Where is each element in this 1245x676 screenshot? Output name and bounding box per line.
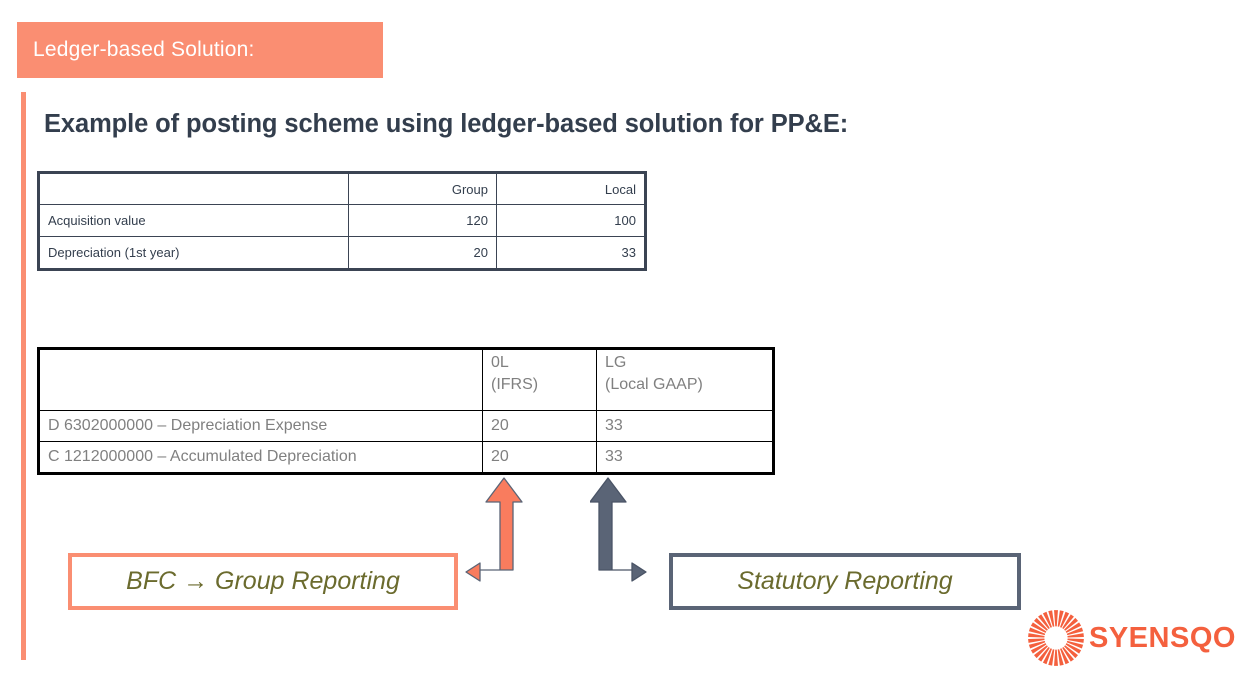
header-banner-label: Ledger-based Solution: (17, 38, 255, 62)
value-row-label: Depreciation (1st year) (39, 237, 349, 270)
value-row-local: 100 (497, 205, 646, 237)
ledger-row-localgaap: 33 (597, 442, 774, 474)
ledger-header-ifrs: 0L (IFRS) (483, 349, 597, 411)
ledger-row-ifrs: 20 (483, 411, 597, 442)
ledger-header-ifrs-line1: 0L (491, 352, 588, 374)
ledger-header-localgaap: LG (Local GAAP) (597, 349, 774, 411)
value-row-group: 120 (349, 205, 497, 237)
brand-wordmark: SYENSQO (1089, 624, 1236, 653)
value-row-local: 33 (497, 237, 646, 270)
table-row: Depreciation (1st year) 20 33 (39, 237, 646, 270)
table-row: Acquisition value 120 100 (39, 205, 646, 237)
value-row-group: 20 (349, 237, 497, 270)
page-title: Example of posting scheme using ledger-b… (44, 110, 848, 139)
ledger-header-localgaap-line1: LG (605, 352, 764, 374)
ledger-header-localgaap-line2: (Local GAAP) (605, 374, 764, 396)
ledger-row-ifrs: 20 (483, 442, 597, 474)
arrow-statutory-icon (590, 476, 660, 596)
callout-bfc-group-reporting[interactable]: BFC → Group Reporting (68, 553, 458, 610)
ledger-header-blank (39, 349, 483, 411)
arrow-bfc-icon (462, 476, 532, 596)
value-table-header-group: Group (349, 173, 497, 205)
value-table-header-row: Group Local (39, 173, 646, 205)
brand-logo: SYENSQO (1027, 608, 1237, 668)
header-banner: Ledger-based Solution: (17, 22, 383, 78)
value-table-header-local: Local (497, 173, 646, 205)
callout-statutory-reporting[interactable]: Statutory Reporting (669, 553, 1021, 610)
value-row-label: Acquisition value (39, 205, 349, 237)
table-row: D 6302000000 – Depreciation Expense 20 3… (39, 411, 774, 442)
left-accent-bar (21, 92, 26, 660)
ledger-header-ifrs-line2: (IFRS) (491, 374, 588, 396)
value-table: Group Local Acquisition value 120 100 De… (37, 171, 647, 271)
sunburst-icon (1027, 609, 1085, 667)
ledger-row-account: C 1212000000 – Accumulated Depreciation (39, 442, 483, 474)
value-table-header-blank (39, 173, 349, 205)
callout-bfc-label: BFC → Group Reporting (126, 567, 400, 596)
ledger-table-header-row: 0L (IFRS) LG (Local GAAP) (39, 349, 774, 411)
ledger-row-account: D 6302000000 – Depreciation Expense (39, 411, 483, 442)
ledger-row-localgaap: 33 (597, 411, 774, 442)
table-row: C 1212000000 – Accumulated Depreciation … (39, 442, 774, 474)
callout-statutory-label: Statutory Reporting (737, 567, 952, 596)
ledger-table: 0L (IFRS) LG (Local GAAP) D 6302000000 –… (37, 347, 775, 475)
